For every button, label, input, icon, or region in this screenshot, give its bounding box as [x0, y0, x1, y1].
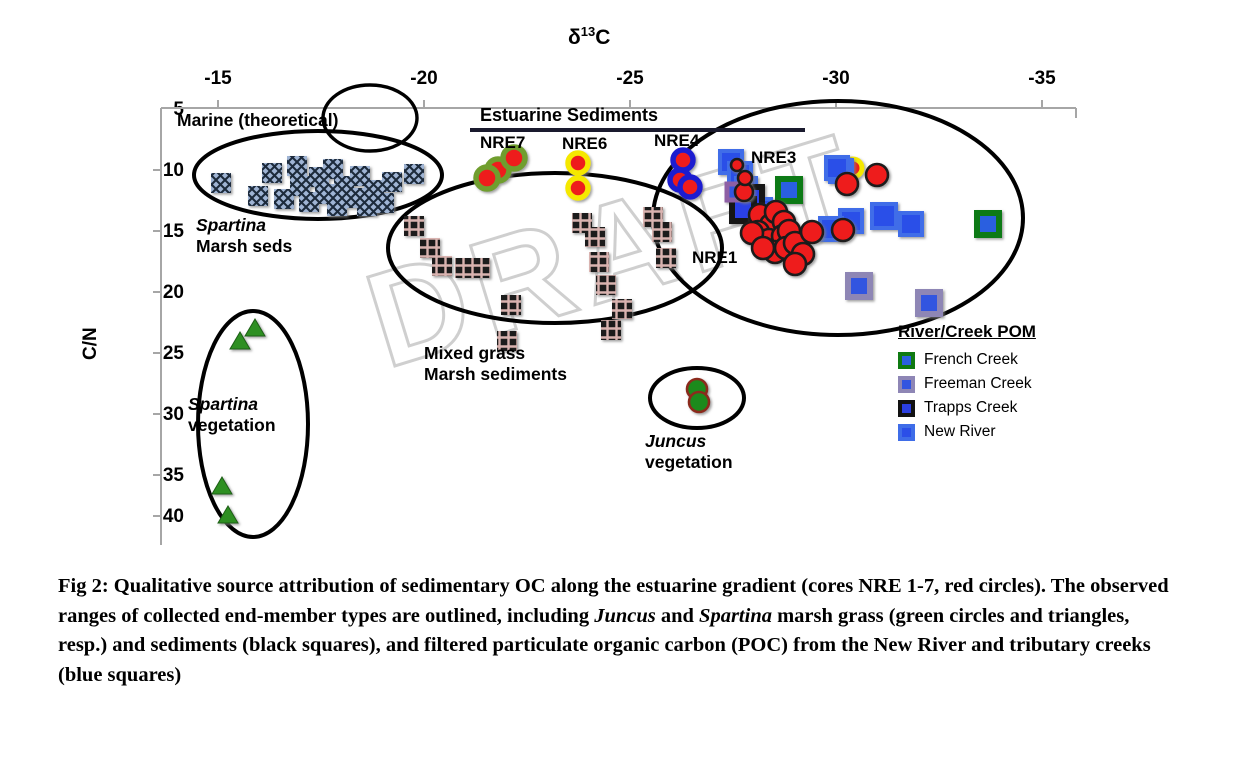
marker-freeman-creek [918, 292, 940, 314]
estuarine-sediments-rule [470, 128, 805, 132]
label-spartina-vegetation: Spartina vegetation [188, 394, 276, 435]
legend-item-trapps-creek[interactable]: Trapps Creek [898, 396, 1036, 420]
label-mixed-grass: Mixed grass Marsh sediments [424, 343, 567, 384]
caption-spartina: Spartina [699, 605, 772, 627]
legend-item-freeman-creek[interactable]: Freeman Creek [898, 372, 1036, 396]
marker-french-creek [778, 179, 800, 201]
caption-juncus: Juncus [594, 605, 656, 627]
label-juncus-vegetation: Juncus vegetation [645, 431, 733, 472]
label-nre6: NRE6 [562, 134, 607, 154]
legend-label: New River [924, 423, 995, 441]
series-nre4 [670, 150, 700, 197]
new-river-swatch-icon [898, 424, 915, 441]
french-creek-swatch-icon [898, 352, 915, 369]
series-mixed-grass-sediments [404, 207, 676, 351]
label-marine-theoretical: Marine (theoretical) [177, 110, 338, 131]
series-nre7 [476, 147, 525, 189]
legend-label: Trapps Creek [924, 399, 1017, 417]
figure-caption: Fig 2: Qualitative source attribution of… [58, 572, 1178, 691]
series-juncus-vegetation [687, 379, 709, 412]
plot-area: δ13C -15 -20 -25 -30 -35 5 10 15 20 25 3… [0, 0, 1238, 565]
caption-part-2: and [656, 605, 699, 627]
label-nre7: NRE7 [480, 133, 525, 153]
legend-title: River/Creek POM [898, 322, 1036, 342]
legend-label: Freeman Creek [924, 375, 1032, 393]
estuarine-sediments-header: Estuarine Sediments [480, 105, 658, 126]
legend: River/Creek POM French Creek Freeman Cre… [898, 322, 1036, 444]
marker-new-river [872, 204, 896, 228]
legend-item-new-river[interactable]: New River [898, 420, 1036, 444]
freeman-creek-swatch-icon [898, 376, 915, 393]
label-nre3: NRE3 [751, 148, 796, 168]
marker-new-river [900, 213, 922, 235]
legend-label: French Creek [924, 351, 1018, 369]
trapps-creek-swatch-icon [898, 400, 915, 417]
plot-svg [0, 0, 1238, 565]
marker-freeman-creek [848, 275, 870, 297]
label-nre4: NRE4 [654, 131, 699, 151]
label-spartina-marsh-seds: Spartina Marsh seds [196, 215, 292, 256]
series-spartina-marsh-sediments [211, 156, 424, 216]
label-nre1: NRE1 [692, 248, 737, 268]
figure-root: δ13C -15 -20 -25 -30 -35 5 10 15 20 25 3… [0, 0, 1238, 771]
marker-french-creek [977, 213, 999, 235]
group-outlines [194, 85, 1023, 537]
legend-item-french-creek[interactable]: French Creek [898, 348, 1036, 372]
